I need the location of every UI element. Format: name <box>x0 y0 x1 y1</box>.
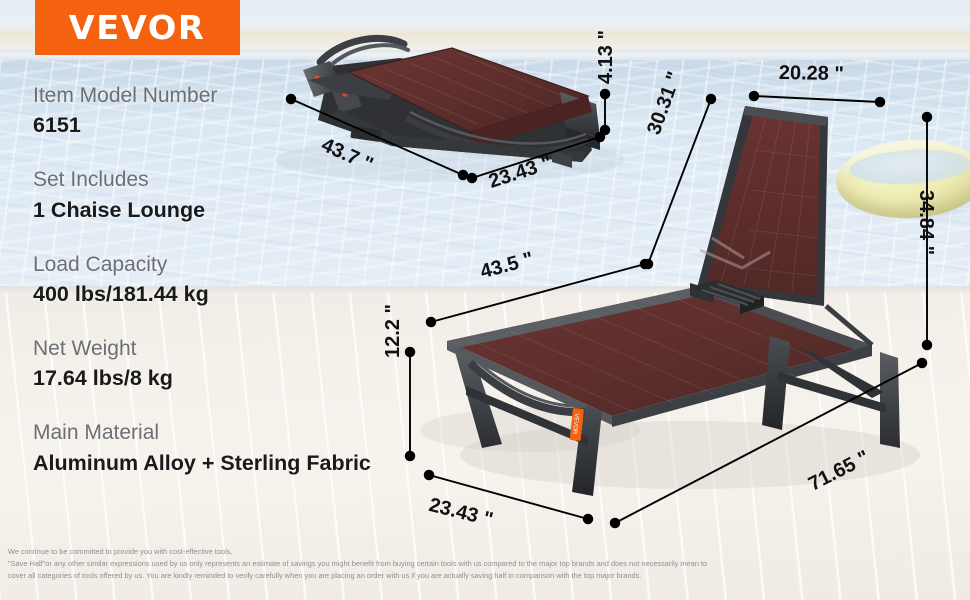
backrest <box>697 106 828 306</box>
footer-line-1: We continue to be committed to provide y… <box>8 546 962 558</box>
footer-line-3: cover all categories of tools offered by… <box>8 570 962 582</box>
vevor-logo-text: VEVOR <box>69 11 206 44</box>
spec-label: Set Includes <box>33 166 453 194</box>
spec-value: Aluminum Alloy + Sterling Fabric <box>33 449 453 478</box>
footer-line-2: "Save Half"or any other similar expressi… <box>8 558 962 570</box>
spec-value: 17.64 lbs/8 kg <box>33 364 453 393</box>
dimension-label-seat-height: 12.2 " <box>382 304 405 358</box>
spec-item-load-capacity: Load Capacity 400 lbs/181.44 kg <box>33 251 453 309</box>
spec-item-main-material: Main Material Aluminum Alloy + Sterling … <box>33 419 453 477</box>
spec-label: Load Capacity <box>33 251 453 279</box>
dimension-label-folded-height: 4.13 " <box>595 30 618 84</box>
dimension-label-overall-height: 34.84 " <box>914 190 937 255</box>
spec-value: 1 Chaise Lounge <box>33 196 453 225</box>
product-spec-image: VEVOR <box>0 0 970 600</box>
dimension-label-backrest-width: 20.28 " <box>779 62 844 86</box>
spec-label: Item Model Number <box>33 82 453 110</box>
footer-disclaimer: We continue to be committed to provide y… <box>8 546 962 582</box>
spec-item-set-includes: Set Includes 1 Chaise Lounge <box>33 166 453 224</box>
spec-value: 6151 <box>33 111 453 140</box>
spec-list: Item Model Number 6151 Set Includes 1 Ch… <box>33 82 453 504</box>
spec-label: Main Material <box>33 419 453 447</box>
vevor-logo: VEVOR <box>35 0 240 55</box>
spec-item-model-number: Item Model Number 6151 <box>33 82 453 140</box>
